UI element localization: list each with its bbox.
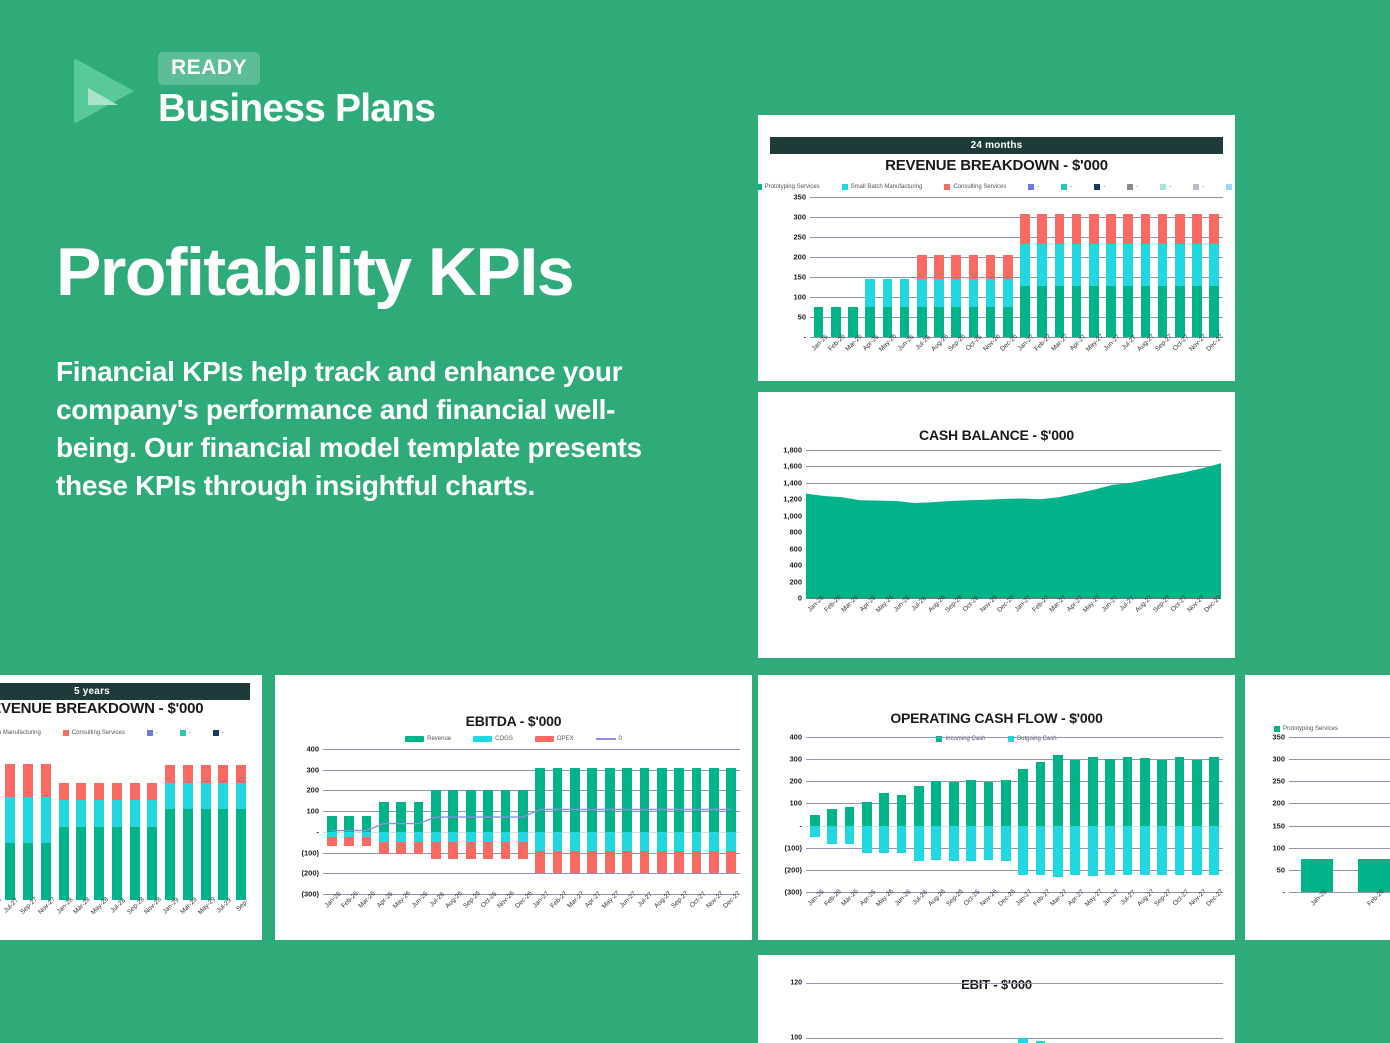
bar-segment	[966, 780, 976, 826]
bar-segment	[827, 826, 837, 844]
bar-segment	[969, 255, 979, 278]
legend-item-extra-2[interactable]: -	[180, 730, 191, 736]
card-cash-balance[interactable]: CASH BALANCE - $'000 02004006008001,0001…	[758, 392, 1235, 658]
bar-segment	[810, 815, 820, 826]
bar-segment	[5, 764, 15, 797]
legend-item-consulting[interactable]: Consulting Services	[63, 730, 125, 736]
bar-segment	[931, 826, 941, 860]
legend-revenue-24m: Prototyping Services Small Batch Manufac…	[758, 181, 1235, 193]
x-tick-label: Oct-26	[962, 594, 981, 613]
chart-title-revenue-5y: REVENUE BREAKDOWN - $'000	[0, 700, 262, 717]
bar-group[interactable]	[928, 737, 945, 892]
y-tick-label: (100)	[784, 843, 802, 852]
ribbon-5-years: 5 years	[0, 683, 250, 700]
xaxis-operating-cash-flow: Jan-26Feb-26Mar-26Apr-26May-26Jun-26Jul-…	[806, 892, 1223, 928]
bar-series	[810, 197, 1223, 337]
bar-group[interactable]	[73, 745, 91, 900]
bar-segment	[986, 255, 996, 278]
bar-segment	[5, 843, 15, 900]
legend-item-opex[interactable]: OPEX	[535, 736, 574, 742]
bar-group[interactable]	[827, 197, 844, 337]
bar-group[interactable]	[161, 745, 179, 900]
zero-line-series	[323, 749, 740, 894]
bar-group[interactable]	[962, 983, 979, 1043]
bar-segment	[41, 764, 51, 797]
bar-segment	[112, 800, 122, 827]
bar-group[interactable]	[893, 983, 910, 1043]
y-tick-label: 100	[306, 807, 319, 816]
bar-segment	[218, 765, 228, 783]
y-tick-label: (300)	[301, 890, 319, 899]
x-tick-label: Jul-29	[216, 897, 233, 914]
y-tick-label: 800	[789, 528, 802, 537]
bar-segment	[1003, 279, 1013, 307]
bar-group[interactable]	[896, 197, 913, 337]
bar-segment	[1020, 286, 1030, 337]
y-tick-label: 300	[306, 765, 319, 774]
bar-group[interactable]	[1206, 197, 1223, 337]
y-tick-label: 100	[793, 293, 806, 302]
x-tick-label: Dec-27	[722, 890, 742, 910]
legend-item-extra-3[interactable]: -	[213, 730, 224, 736]
bar-group[interactable]	[879, 197, 896, 337]
y-tick-label: 200	[789, 577, 802, 586]
bar-segment	[984, 826, 994, 861]
bar-group[interactable]	[841, 737, 858, 892]
grid-area	[810, 197, 1223, 337]
bar-segment	[949, 782, 959, 826]
bar-segment	[1209, 214, 1219, 244]
bar-segment	[1106, 214, 1116, 244]
bar-group[interactable]	[1032, 737, 1049, 892]
legend-item-extra-7[interactable]: -	[1226, 184, 1235, 190]
bar-group[interactable]	[1034, 197, 1051, 337]
bar-segment	[1003, 307, 1013, 337]
y-tick-label: 50	[1277, 865, 1285, 874]
bar-segment	[1140, 758, 1150, 826]
bar-group[interactable]	[1119, 737, 1136, 892]
bar-group[interactable]	[945, 983, 962, 1043]
bar-segment	[94, 800, 104, 827]
legend-item-extra-1[interactable]: -	[147, 730, 158, 736]
bar-segment	[900, 307, 910, 337]
legend-item-prototyping[interactable]: Prototyping Services	[758, 184, 820, 190]
y-tick-label: 200	[793, 253, 806, 262]
bar-segment	[1123, 214, 1133, 244]
y-tick-label: 0	[798, 594, 802, 603]
legend-item-consulting[interactable]: Consulting Services	[944, 184, 1006, 190]
x-tick-label: Apr-27	[1067, 888, 1086, 907]
bar-group[interactable]	[930, 197, 947, 337]
bar-segment	[1036, 826, 1046, 876]
bar-segment	[183, 765, 193, 783]
grid-area	[0, 745, 250, 900]
bar-group[interactable]	[1171, 983, 1188, 1043]
x-tick-label: Jul-27	[1118, 595, 1135, 612]
bar-segment	[1158, 286, 1168, 337]
bar-group[interactable]	[1188, 197, 1205, 337]
bar-group[interactable]	[1171, 197, 1188, 337]
x-tick-label: Apr-26	[858, 594, 877, 613]
bar-segment	[1037, 214, 1047, 244]
bar-group[interactable]	[90, 745, 108, 900]
bar-segment	[1072, 214, 1082, 244]
bar-group[interactable]	[980, 737, 997, 892]
bar-group[interactable]	[1154, 197, 1171, 337]
card-revenue-breakdown-24m[interactable]: 24 months REVENUE BREAKDOWN - $'000 Prot…	[758, 115, 1235, 381]
bar-segment	[810, 826, 820, 838]
chart-title-operating-cash-flow: OPERATING CASH FLOW - $'000	[758, 710, 1235, 726]
bar-group[interactable]	[1067, 983, 1084, 1043]
legend-item-extra-6[interactable]: -	[1193, 184, 1204, 190]
legend-item-extra-3[interactable]: -	[1094, 184, 1105, 190]
card-ebitda[interactable]: EBITDA - $'000 Revenue COGS OPEX 0 (300)…	[275, 675, 752, 940]
bar-segment	[951, 255, 961, 278]
bar-group[interactable]	[948, 197, 965, 337]
brand-lockup: READY Business Plans	[74, 52, 435, 130]
brand-text: READY Business Plans	[158, 52, 435, 130]
bar-group[interactable]	[215, 745, 233, 900]
bar-group[interactable]	[37, 745, 55, 900]
bar-segment	[1018, 769, 1028, 826]
bar-segment	[883, 307, 893, 337]
y-tick-label: 100	[789, 799, 802, 808]
bar-series	[1289, 737, 1390, 892]
play-triangle-icon	[74, 58, 144, 128]
bar-group[interactable]	[810, 197, 827, 337]
y-tick-label: 600	[789, 544, 802, 553]
bar-group[interactable]	[858, 983, 875, 1043]
y-tick-label: 200	[789, 777, 802, 786]
x-tick-label: Apr-27	[1066, 594, 1085, 613]
area-series	[806, 450, 1221, 598]
bar-segment	[23, 764, 33, 797]
bar-segment	[883, 279, 893, 307]
xaxis-revenue-partial: Jan-26Feb-26Mar-26Apr-26May-	[1289, 892, 1390, 926]
legend-item-small-batch[interactable]: Small Batch Manufacturing	[0, 730, 41, 736]
y-tick-label: 150	[1272, 821, 1285, 830]
bar-group[interactable]	[1154, 737, 1171, 892]
bar-group[interactable]	[1119, 983, 1136, 1043]
bar-segment	[934, 307, 944, 337]
bar-group[interactable]	[1049, 983, 1066, 1043]
bar-segment	[1192, 214, 1202, 244]
bar-segment	[914, 786, 924, 825]
bar-segment	[931, 781, 941, 825]
chart-title-cash-balance: CASH BALANCE - $'000	[758, 427, 1235, 443]
bar-group[interactable]	[1171, 737, 1188, 892]
bar-group[interactable]	[1015, 983, 1032, 1043]
legend-item-prototyping[interactable]: Prototyping Services	[1274, 726, 1338, 732]
bar-segment	[130, 783, 140, 801]
x-tick-label: Dec-27	[1205, 888, 1225, 908]
y-tick-label: -	[317, 827, 320, 836]
bar-segment	[147, 800, 157, 827]
y-tick-label: 120	[790, 980, 802, 987]
bar-segment	[130, 827, 140, 900]
bar-group[interactable]	[144, 745, 162, 900]
bar-group[interactable]	[1051, 197, 1068, 337]
x-tick-label: Jul-27	[1121, 334, 1138, 351]
bar-group[interactable]	[982, 197, 999, 337]
bar-group[interactable]	[1101, 737, 1118, 892]
plot-cash-balance: 02004006008001,0001,2001,4001,6001,800	[772, 450, 1223, 598]
bar-segment	[917, 307, 927, 337]
bar-group[interactable]	[1101, 983, 1118, 1043]
bar-segment	[59, 800, 69, 827]
y-tick-label: 400	[789, 561, 802, 570]
bar-group[interactable]	[841, 983, 858, 1043]
bar-segment	[969, 307, 979, 337]
y-tick-label: -	[800, 821, 803, 830]
ribbon-24-months: 24 months	[770, 137, 1223, 154]
bar-group[interactable]	[862, 197, 879, 337]
bar-group[interactable]	[965, 197, 982, 337]
y-tick-label: (100)	[301, 848, 319, 857]
bar-series	[806, 983, 1223, 1043]
bar-segment	[949, 826, 959, 861]
bar-group[interactable]	[962, 737, 979, 892]
x-tick-label: Mar-28	[73, 896, 93, 916]
bar-group[interactable]	[997, 983, 1014, 1043]
grid-area	[806, 737, 1223, 892]
x-tick-label: Jul-26	[428, 891, 445, 908]
bar-segment	[1089, 214, 1099, 244]
bar-segment	[1089, 286, 1099, 337]
bar-segment	[1140, 826, 1150, 876]
bar-segment	[966, 826, 976, 861]
legend-item-revenue[interactable]: Revenue	[405, 736, 451, 742]
bar-group[interactable]	[1016, 197, 1033, 337]
y-tick-label: -	[1283, 888, 1286, 897]
xaxis-revenue-5y: Mar-27May-27Jul-27Sep-27Nov-27Jan-28Mar-…	[0, 900, 250, 934]
x-tick-label: Oct-27	[1170, 594, 1189, 613]
bar-group[interactable]	[844, 197, 861, 337]
bar-segment	[814, 307, 824, 337]
bar-group[interactable]	[1206, 737, 1223, 892]
legend-item-extra-5[interactable]: -	[1160, 184, 1171, 190]
chart-title-ebitda: EBITDA - $'000	[275, 713, 752, 729]
bar-segment	[1157, 760, 1167, 826]
bar-segment	[1123, 757, 1133, 826]
bar-group[interactable]	[1188, 983, 1205, 1043]
legend-item-extra-2[interactable]: -	[1061, 184, 1072, 190]
bar-group[interactable]	[1136, 737, 1153, 892]
y-axis: (300)(200)(100)-100200300400	[289, 749, 323, 894]
bar-group[interactable]	[1154, 983, 1171, 1043]
bar-group[interactable]	[806, 737, 823, 892]
bar-group[interactable]	[1032, 983, 1049, 1043]
bar-segment	[41, 843, 51, 900]
bar-segment	[897, 795, 907, 826]
bar-segment	[183, 809, 193, 900]
bar-segment	[1053, 755, 1063, 826]
x-tick-label: Sep-	[235, 898, 250, 913]
bar-group[interactable]	[2, 745, 20, 900]
y-tick-label: 350	[1272, 733, 1285, 742]
bar-segment	[1141, 244, 1151, 286]
y-axis: -50100150200250300350	[1255, 737, 1289, 892]
bar-segment	[917, 279, 927, 307]
bar-segment	[147, 827, 157, 900]
x-tick-label: Feb-26	[1366, 888, 1386, 908]
bar-group[interactable]	[1120, 197, 1137, 337]
x-tick-label: Apr-26	[376, 890, 395, 909]
bar-segment	[862, 826, 872, 853]
bar-segment	[1088, 826, 1098, 877]
bar-segment	[23, 843, 33, 900]
card-revenue-breakdown-5y[interactable]: 5 years REVENUE BREAKDOWN - $'000 Small …	[0, 675, 262, 940]
y-tick-label: 1,600	[783, 462, 802, 471]
bar-group[interactable]	[823, 983, 840, 1043]
bar-segment	[1175, 214, 1185, 244]
y-tick-label: (200)	[301, 869, 319, 878]
bar-segment	[862, 802, 872, 826]
bar-group[interactable]	[910, 737, 927, 892]
bar-group[interactable]	[1102, 197, 1119, 337]
bar-group[interactable]	[999, 197, 1016, 337]
x-tick-label: Jul-26	[914, 334, 931, 351]
bar-segment	[1018, 1038, 1028, 1043]
bar-segment	[1036, 762, 1046, 826]
bar-segment	[986, 279, 996, 307]
legend-item-extra-4[interactable]: -	[1127, 184, 1138, 190]
x-tick-label: Jul-26	[911, 595, 928, 612]
x-tick-label: Dec-27	[1205, 333, 1225, 353]
card-operating-cash-flow[interactable]: OPERATING CASH FLOW - $'000 Incoming Cas…	[758, 675, 1235, 940]
xaxis-cash-balance: Jan-26Feb-26Mar-26Apr-26May-26Jun-26Jul-…	[806, 598, 1221, 634]
bar-segment	[1175, 244, 1185, 286]
bar-group[interactable]	[1085, 197, 1102, 337]
bar-group[interactable]	[19, 745, 37, 900]
bar-segment	[183, 783, 193, 810]
bar-group[interactable]	[1084, 983, 1101, 1043]
x-tick-label: Oct-27	[688, 890, 707, 909]
bar-group[interactable]	[913, 197, 930, 337]
x-tick-label: Jul-27	[1120, 889, 1137, 906]
bar-segment	[827, 809, 837, 826]
bar-group[interactable]	[126, 745, 144, 900]
bar-segment	[897, 826, 907, 853]
bar-group[interactable]	[1206, 983, 1223, 1043]
legend-revenue-5y: Small Batch Manufacturing Consulting Ser…	[0, 727, 262, 739]
bar-group[interactable]	[928, 983, 945, 1043]
card-revenue-partial-right[interactable]: Prototyping Services -501001502002503003…	[1245, 675, 1390, 940]
bar-group[interactable]	[823, 737, 840, 892]
y-tick-label: 300	[789, 755, 802, 764]
hero-description: Financial KPIs help track and enhance yo…	[56, 353, 646, 505]
bar-segment	[1209, 826, 1219, 876]
bar-segment	[1053, 826, 1063, 877]
bar-segment	[1072, 244, 1082, 286]
x-tick-label: Dec-27	[1204, 594, 1224, 614]
bar-segment	[951, 279, 961, 307]
bar-group[interactable]	[55, 745, 73, 900]
bar-group[interactable]	[1289, 737, 1346, 892]
bar-segment	[1209, 244, 1219, 286]
x-tick-label: Mar-29	[179, 896, 199, 916]
y-tick-label: 200	[1272, 799, 1285, 808]
bar-group[interactable]	[179, 745, 197, 900]
bar-segment	[147, 783, 157, 801]
bar-group[interactable]	[1049, 737, 1066, 892]
grid-area	[323, 749, 740, 894]
bar-segment	[848, 307, 858, 337]
bar-group[interactable]	[1136, 983, 1153, 1043]
bar-segment	[1141, 286, 1151, 337]
bar-group[interactable]	[980, 983, 997, 1043]
bar-segment	[845, 807, 855, 825]
bar-group[interactable]	[232, 745, 250, 900]
bar-group[interactable]	[1084, 737, 1101, 892]
card-ebit[interactable]: EBIT - $'000 80100120	[758, 955, 1235, 1043]
bar-segment	[1055, 244, 1065, 286]
bar-group[interactable]	[197, 745, 215, 900]
bar-group[interactable]	[1015, 737, 1032, 892]
bar-segment	[218, 783, 228, 810]
y-tick-label: 150	[793, 273, 806, 282]
bar-group[interactable]	[876, 983, 893, 1043]
bar-group[interactable]	[1068, 197, 1085, 337]
bar-group[interactable]	[108, 745, 126, 900]
bar-group[interactable]	[1188, 737, 1205, 892]
bar-segment	[1123, 826, 1133, 876]
page-title: Profitability KPIs	[56, 238, 573, 306]
y-tick-label: 100	[790, 1035, 802, 1042]
y-tick-label: 1,400	[783, 478, 802, 487]
bar-group[interactable]	[858, 737, 875, 892]
legend-item-small-batch[interactable]: Small Batch Manufacturing	[842, 184, 923, 190]
y-tick-label: 1,200	[783, 495, 802, 504]
x-tick-label: Jan-26	[1309, 888, 1328, 907]
x-tick-label: Jul-27	[637, 891, 654, 908]
plot-revenue-partial: -50100150200250300350	[1255, 737, 1390, 892]
bar-segment	[236, 783, 246, 810]
bar-group[interactable]	[910, 983, 927, 1043]
bar-group[interactable]	[945, 737, 962, 892]
x-tick-label: Oct-26	[963, 888, 982, 907]
bar-segment	[1105, 759, 1115, 825]
bar-segment	[76, 827, 86, 900]
bar-segment	[23, 797, 33, 844]
bar-group[interactable]	[1346, 737, 1390, 892]
x-tick-label: Jan-28	[55, 896, 74, 915]
bar-group[interactable]	[806, 983, 823, 1043]
bar-segment	[165, 809, 175, 900]
y-axis: 02004006008001,0001,2001,4001,6001,800	[772, 450, 806, 598]
bar-group[interactable]	[893, 737, 910, 892]
bar-group[interactable]	[997, 737, 1014, 892]
bar-segment	[934, 255, 944, 278]
bar-segment	[1175, 286, 1185, 337]
xaxis-ebitda: Jan-26Feb-26Mar-26Apr-26May-26Jun-26Jul-…	[323, 894, 740, 930]
bar-group[interactable]	[1137, 197, 1154, 337]
bar-segment	[59, 827, 69, 900]
bar-segment	[5, 797, 15, 844]
legend-item-zero[interactable]: 0	[596, 736, 622, 742]
legend-item-cogs[interactable]: COGS	[473, 736, 513, 742]
bar-segment	[865, 307, 875, 337]
bar-segment	[1037, 244, 1047, 286]
bar-segment	[879, 826, 889, 853]
bar-group[interactable]	[876, 737, 893, 892]
bar-group[interactable]	[1067, 737, 1084, 892]
bar-segment	[1123, 244, 1133, 286]
bar-segment	[236, 809, 246, 900]
y-tick-label: 300	[1272, 755, 1285, 764]
x-tick-label: Jul-28	[109, 897, 126, 914]
legend-item-extra-1[interactable]: -	[1028, 184, 1039, 190]
